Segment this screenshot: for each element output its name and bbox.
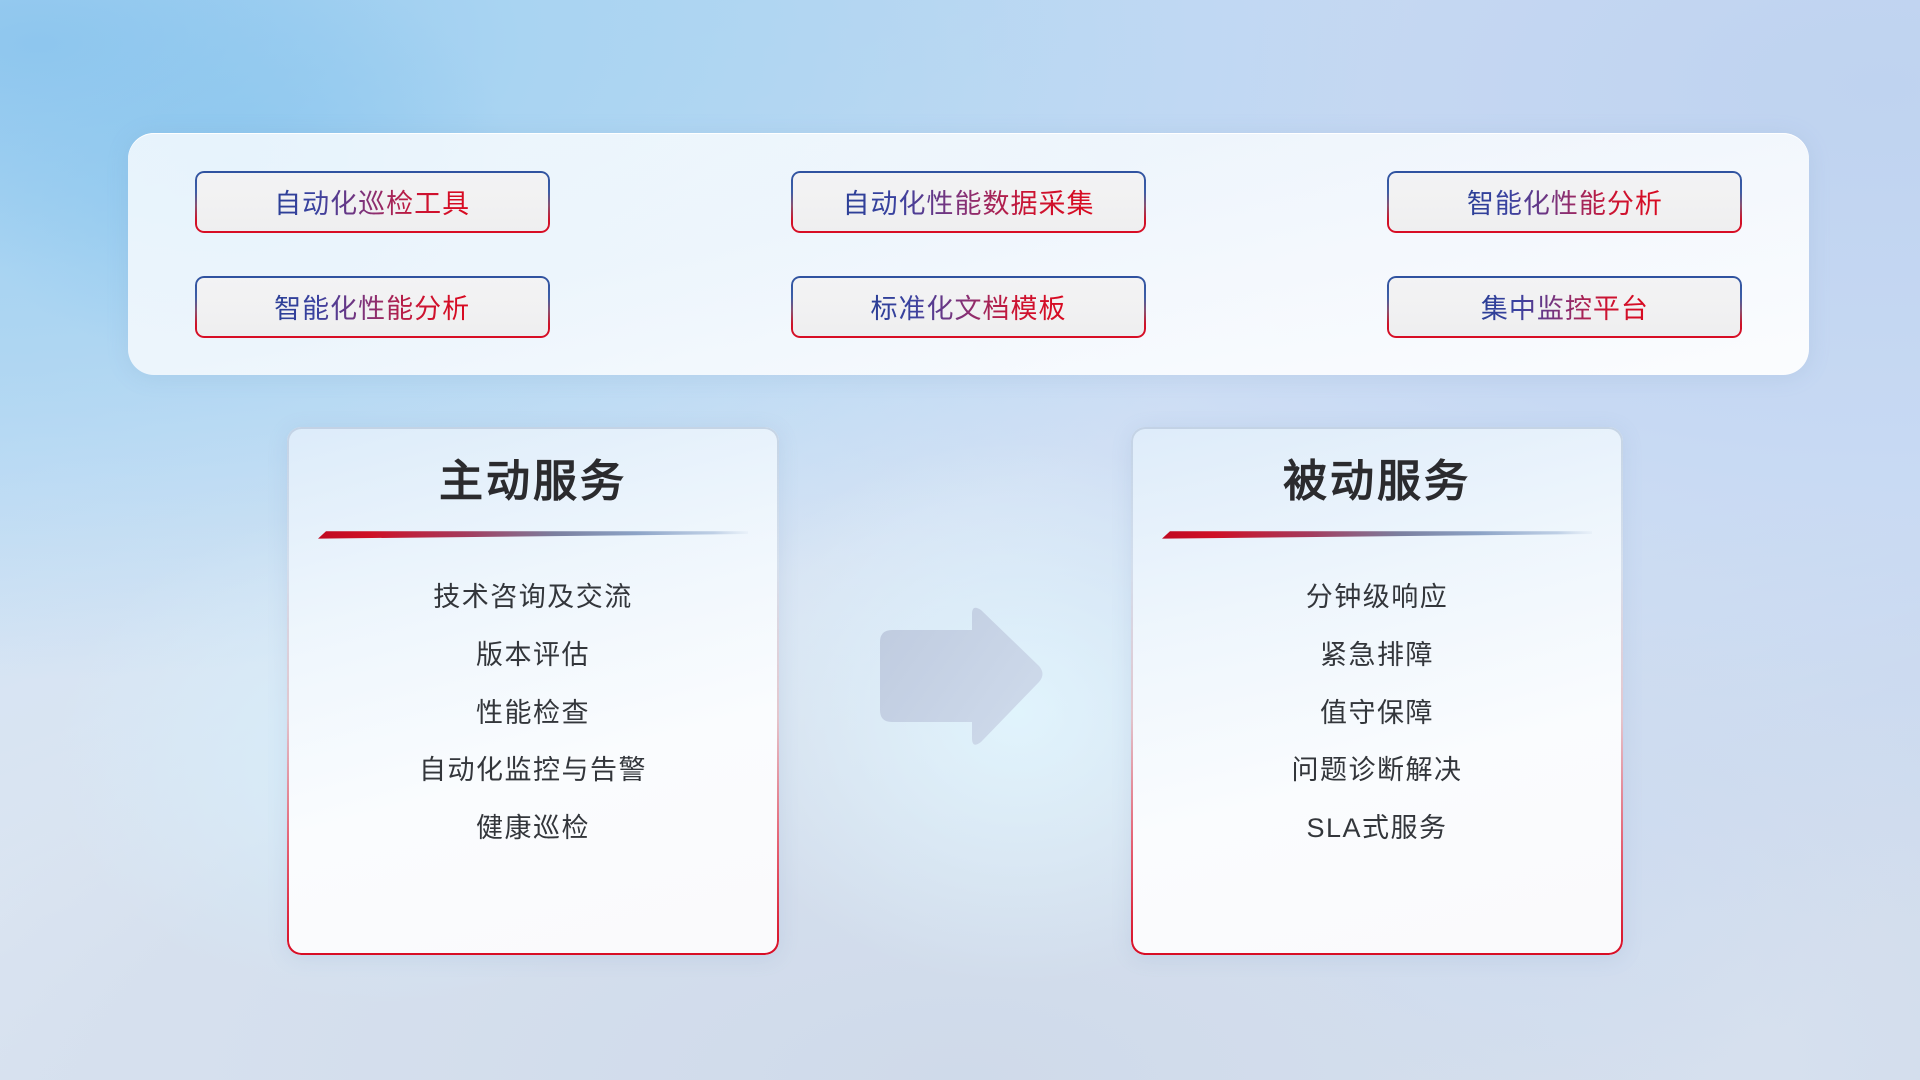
card-divider	[1162, 530, 1592, 539]
capability-pill-4[interactable]: 智能化性能分析	[195, 276, 550, 338]
service-card-passive: 被动服务 分钟级响应 紧急排障 值守保障 问题诊断解决 SLA式服务	[1131, 427, 1623, 955]
capability-pill-label: 标准化文档模板	[870, 287, 1066, 326]
card-divider	[318, 530, 748, 539]
card-title: 主动服务	[313, 457, 753, 506]
capability-panel: 自动化巡检工具 自动化性能数据采集 智能化性能分析 智能化性能分析 标准化文档模…	[128, 133, 1809, 375]
capability-pill-6[interactable]: 集中监控平台	[1387, 276, 1742, 338]
card-item-list: 技术咨询及交流 版本评估 性能检查 自动化监控与告警 健康巡检	[313, 569, 753, 857]
card-list-item: 健康巡检	[313, 800, 753, 858]
capability-pill-label: 自动化巡检工具	[274, 182, 470, 221]
card-list-item: 分钟级响应	[1157, 569, 1597, 627]
capability-pill-label: 智能化性能分析	[274, 287, 470, 326]
card-list-item: 值守保障	[1157, 685, 1597, 743]
arrow-right-icon	[876, 604, 1044, 750]
card-list-item: 自动化监控与告警	[313, 742, 753, 800]
service-card-active: 主动服务 技术咨询及交流 版本评估 性能检查 自动化监控与告警 健康巡检	[287, 427, 779, 955]
capability-pill-label: 智能化性能分析	[1467, 182, 1663, 221]
card-list-item: SLA式服务	[1157, 800, 1597, 858]
capability-pill-5[interactable]: 标准化文档模板	[791, 276, 1146, 338]
capability-pill-2[interactable]: 自动化性能数据采集	[791, 171, 1146, 233]
capability-pill-grid: 自动化巡检工具 自动化性能数据采集 智能化性能分析 智能化性能分析 标准化文档模…	[172, 159, 1765, 349]
card-list-item: 技术咨询及交流	[313, 569, 753, 627]
capability-pill-label: 自动化性能数据采集	[842, 182, 1094, 221]
card-list-item: 紧急排障	[1157, 627, 1597, 685]
capability-pill-3[interactable]: 智能化性能分析	[1387, 171, 1742, 233]
capability-pill-label: 集中监控平台	[1481, 287, 1649, 326]
card-list-item: 版本评估	[313, 627, 753, 685]
card-list-item: 性能检查	[313, 685, 753, 743]
card-item-list: 分钟级响应 紧急排障 值守保障 问题诊断解决 SLA式服务	[1157, 569, 1597, 857]
capability-pill-1[interactable]: 自动化巡检工具	[195, 171, 550, 233]
card-list-item: 问题诊断解决	[1157, 742, 1597, 800]
card-title: 被动服务	[1157, 457, 1597, 506]
